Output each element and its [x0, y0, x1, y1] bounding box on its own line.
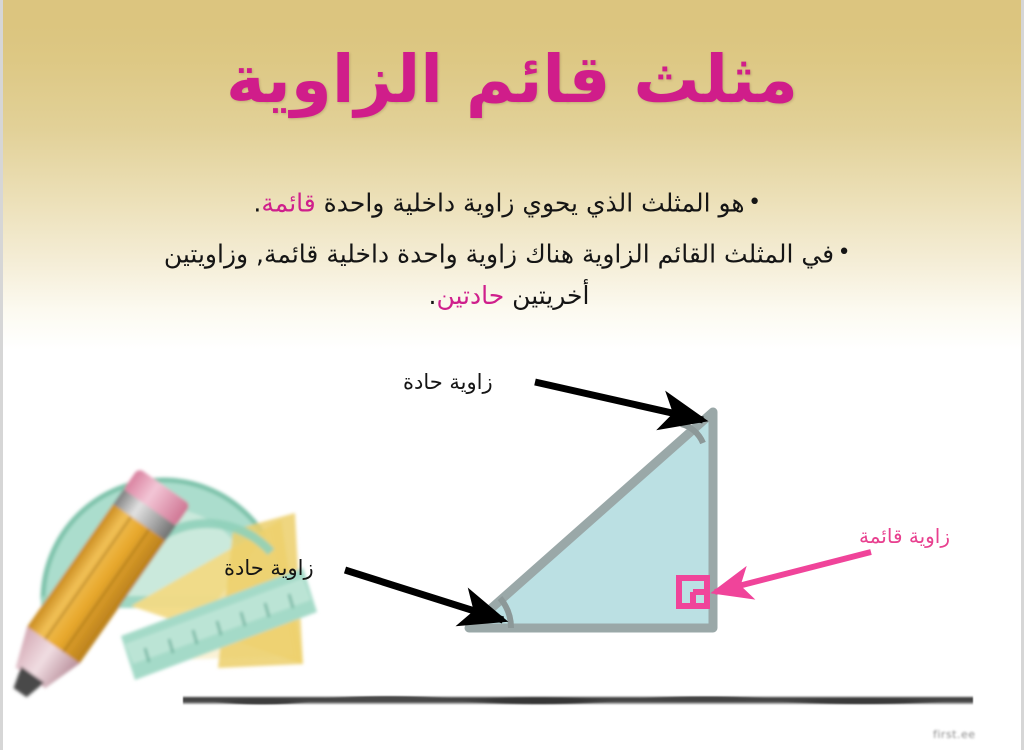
right-triangle-diagram	[3, 0, 1024, 750]
arrow-right-angle	[715, 552, 871, 592]
triangle-shape	[469, 412, 713, 628]
arrow-acute-left	[345, 570, 503, 620]
pencil-protractor-ruler-clipart	[3, 468, 317, 711]
watermark-text: first.ee	[933, 728, 976, 741]
bottom-smudge-band	[183, 692, 973, 708]
label-acute-angle-left: زاوية حادة	[224, 556, 314, 580]
slide-canvas: مثلث قائم الزاوية •هو المثلث الذي يحوي ز…	[0, 0, 1024, 750]
arrow-acute-top	[535, 382, 703, 420]
label-right-angle: زاوية قائمة	[859, 524, 950, 548]
label-acute-angle-top: زاوية حادة	[403, 370, 493, 394]
